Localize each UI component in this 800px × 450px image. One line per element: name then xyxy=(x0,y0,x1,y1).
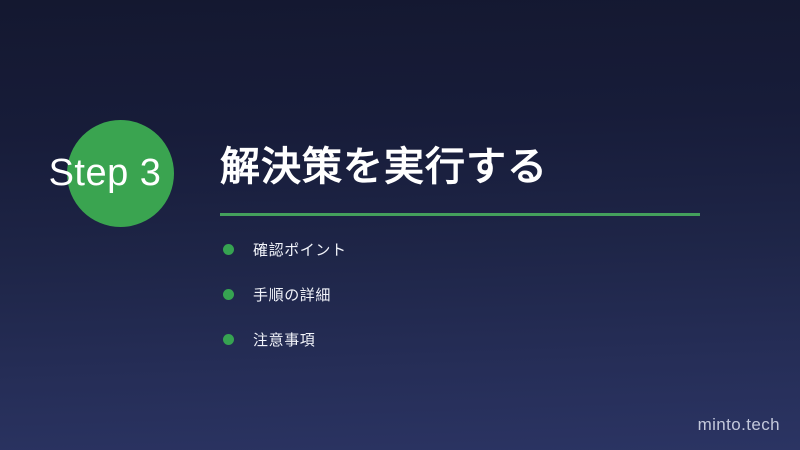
list-item-label: 確認ポイント xyxy=(253,239,347,260)
list-item: 確認ポイント xyxy=(220,234,720,264)
list-item: 注意事項 xyxy=(220,324,720,354)
list-item-label: 手順の詳細 xyxy=(253,284,331,305)
step-badge-label: Step 3 xyxy=(0,120,210,227)
list-item: 手順の詳細 xyxy=(220,279,720,309)
step-badge: Step 3 xyxy=(0,110,210,240)
slide-title: 解決策を実行する xyxy=(220,142,548,192)
bullet-dot-icon xyxy=(223,244,234,255)
title-underline-divider xyxy=(220,213,700,216)
footer-watermark: minto.tech xyxy=(698,415,780,435)
bullet-list: 確認ポイント 手順の詳細 注意事項 xyxy=(220,234,720,369)
bullet-dot-icon xyxy=(223,334,234,345)
presentation-slide: Step 3 解決策を実行する 確認ポイント 手順の詳細 注意事項 minto.… xyxy=(0,0,800,450)
bullet-dot-icon xyxy=(223,289,234,300)
list-item-label: 注意事項 xyxy=(253,329,315,350)
